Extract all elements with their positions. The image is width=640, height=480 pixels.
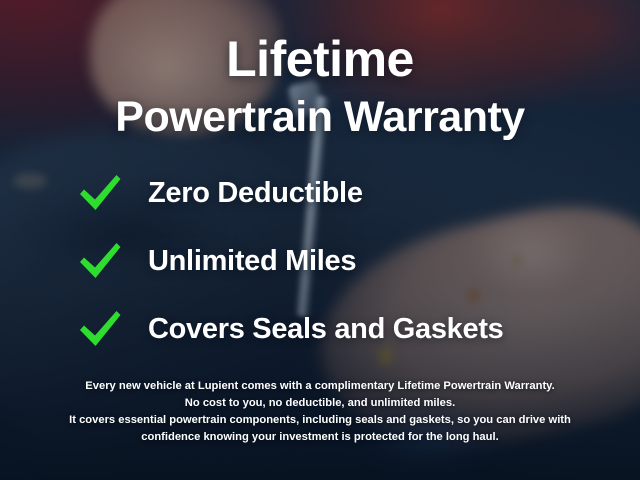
green-check-icon bbox=[78, 241, 122, 281]
fineprint-line-2: No cost to you, no deductible, and unlim… bbox=[26, 395, 614, 412]
lifetime-powertrain-warranty-banner: Lifetime Powertrain Warranty Zero Deduct… bbox=[0, 0, 640, 480]
benefit-item-zero-deductible: Zero Deductible bbox=[78, 173, 640, 213]
benefits-list: Zero Deductible Unlimited Miles Covers S… bbox=[0, 173, 640, 349]
fineprint-line-3: It covers essential powertrain component… bbox=[26, 412, 614, 429]
fineprint-line-4: confidence knowing your investment is pr… bbox=[26, 429, 614, 446]
benefit-item-covers-seals-and-gaskets: Covers Seals and Gaskets bbox=[78, 309, 640, 349]
benefit-label: Zero Deductible bbox=[148, 179, 363, 208]
fineprint-line-1: Every new vehicle at Lupient comes with … bbox=[26, 378, 614, 395]
headline-line-1: Lifetime bbox=[0, 34, 640, 84]
banner-content: Lifetime Powertrain Warranty Zero Deduct… bbox=[0, 0, 640, 480]
headline-line-2: Powertrain Warranty bbox=[0, 96, 640, 139]
fineprint-block: Every new vehicle at Lupient comes with … bbox=[0, 378, 640, 446]
green-check-icon bbox=[78, 173, 122, 213]
green-check-icon bbox=[78, 309, 122, 349]
benefit-label: Unlimited Miles bbox=[148, 247, 356, 276]
benefit-label: Covers Seals and Gaskets bbox=[148, 315, 504, 344]
benefit-item-unlimited-miles: Unlimited Miles bbox=[78, 241, 640, 281]
